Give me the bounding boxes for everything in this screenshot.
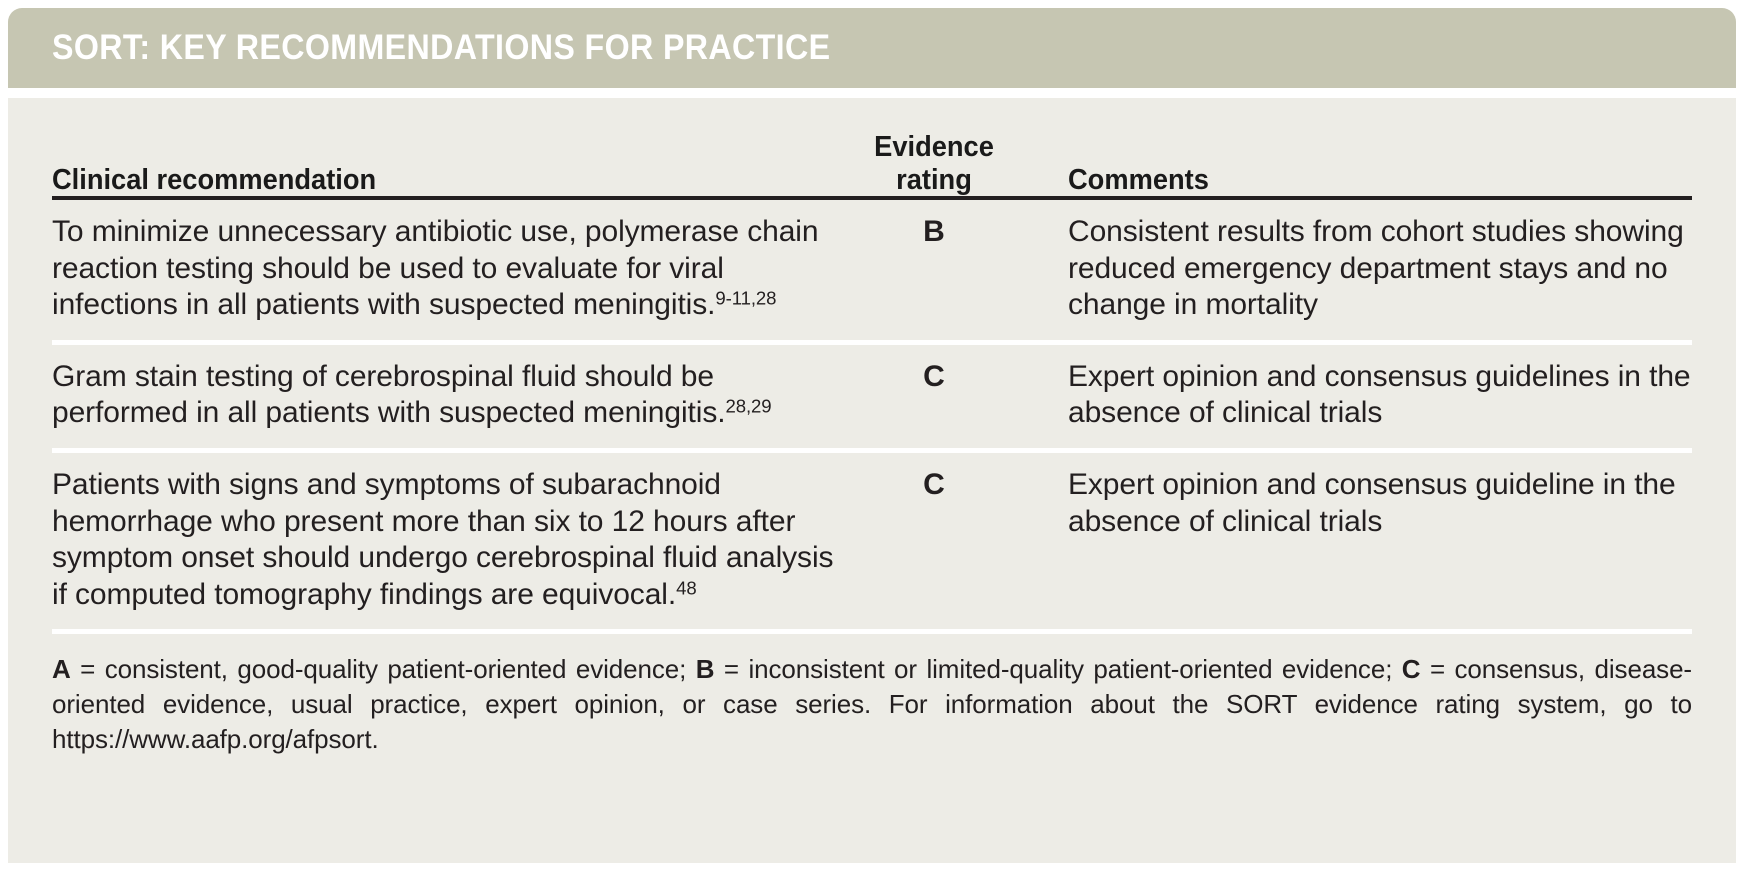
header-divider-gap	[8, 88, 1736, 98]
table-row: Patients with signs and symptoms of suba…	[52, 453, 1692, 629]
row-rating-cell: C	[852, 359, 1016, 396]
recommendation-body: To minimize unnecessary antibiotic use, …	[52, 215, 818, 321]
table-row: Gram stain testing of cerebrospinal flui…	[52, 345, 1692, 448]
row-rating-cell: C	[852, 467, 1016, 504]
row-recommendation-cell: To minimize unnecessary antibiotic use, …	[52, 214, 852, 324]
footnote-rating-a-text: = consistent, good-quality patient-orien…	[71, 654, 696, 684]
comments-text: Expert opinion and consensus guidelines …	[1068, 359, 1692, 432]
comments-text: Consistent results from cohort studies s…	[1068, 214, 1692, 324]
footnote-rating-c-letter: C	[1402, 654, 1421, 684]
evidence-rating-value: C	[852, 359, 1016, 396]
column-header-evidence-rating: Evidence rating	[857, 131, 1011, 196]
row-recommendation-cell: Patients with signs and symptoms of suba…	[52, 467, 852, 613]
table-header-bar: SORT: KEY RECOMMENDATIONS FOR PRACTICE	[8, 8, 1736, 88]
footnote-rating-b-letter: B	[696, 654, 715, 684]
footnote-rating-b-text: = inconsistent or limited-quality patien…	[714, 654, 1401, 684]
sort-recommendations-table: SORT: KEY RECOMMENDATIONS FOR PRACTICE C…	[8, 8, 1736, 863]
row-recommendation-cell: Gram stain testing of cerebrospinal flui…	[52, 359, 852, 432]
recommendation-body: Gram stain testing of cerebrospinal flui…	[52, 360, 725, 430]
evidence-rating-value: C	[852, 467, 1016, 504]
recommendation-text: To minimize unnecessary antibiotic use, …	[52, 214, 842, 324]
column-header-cell-recommendation: Clinical recommendation	[52, 164, 852, 196]
recommendation-body: Patients with signs and symptoms of suba…	[52, 468, 833, 611]
recommendation-references: 9-11,28	[715, 288, 776, 309]
recommendation-text: Gram stain testing of cerebrospinal flui…	[52, 359, 842, 432]
table-title: SORT: KEY RECOMMENDATIONS FOR PRACTICE	[52, 28, 830, 68]
recommendation-references: 48	[676, 577, 696, 598]
recommendation-text: Patients with signs and symptoms of suba…	[52, 467, 842, 613]
table-footnote: A = consistent, good-quality patient-ori…	[52, 634, 1692, 756]
recommendation-references: 28,29	[725, 396, 771, 417]
column-header-cell-rating: Evidence rating	[852, 131, 1016, 196]
table-column-headers: Clinical recommendation Evidence rating …	[52, 98, 1692, 196]
table-row: To minimize unnecessary antibiotic use, …	[52, 200, 1692, 340]
footnote-rating-a-letter: A	[52, 654, 71, 684]
row-comments-cell: Consistent results from cohort studies s…	[1016, 214, 1692, 324]
table-body: Clinical recommendation Evidence rating …	[8, 98, 1736, 863]
row-comments-cell: Expert opinion and consensus guideline i…	[1016, 467, 1692, 540]
body-bottom-spacer	[52, 757, 1692, 863]
row-rating-cell: B	[852, 214, 1016, 251]
column-header-cell-comments: Comments	[1016, 164, 1692, 196]
row-comments-cell: Expert opinion and consensus guidelines …	[1016, 359, 1692, 432]
comments-text: Expert opinion and consensus guideline i…	[1068, 467, 1692, 540]
column-header-comments: Comments	[1068, 164, 1655, 196]
column-header-recommendation: Clinical recommendation	[52, 164, 804, 196]
evidence-rating-value: B	[852, 214, 1016, 251]
